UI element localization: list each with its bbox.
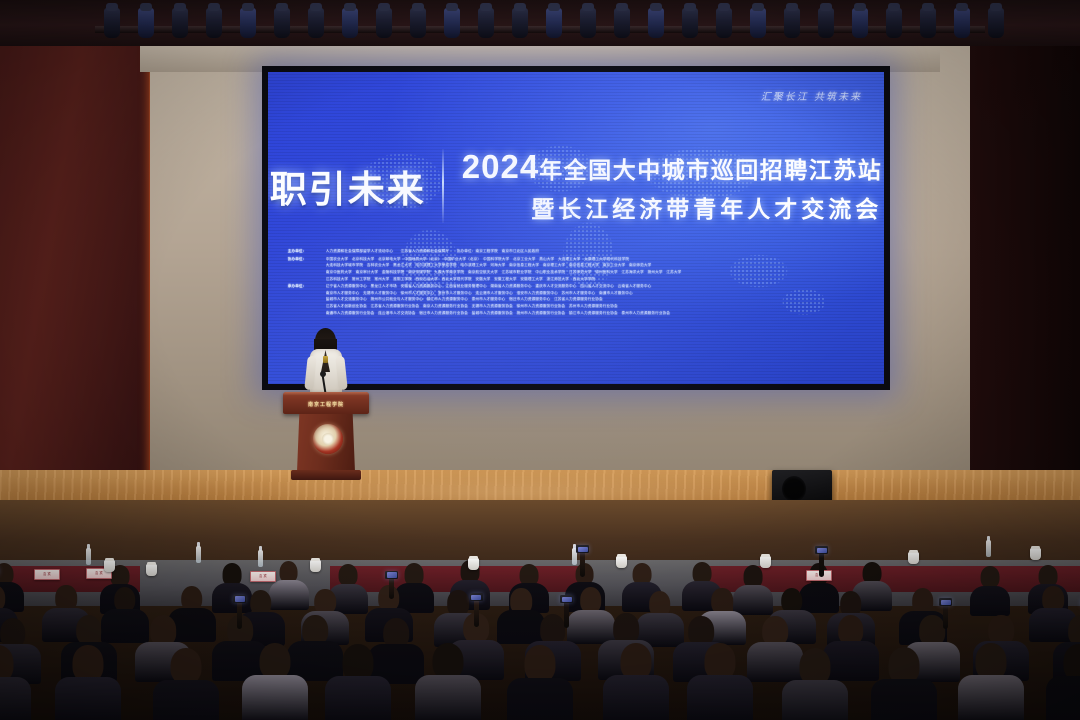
stage-light (580, 8, 596, 38)
stage-light (716, 8, 732, 38)
audience-body (1046, 676, 1080, 720)
water-bottle (258, 550, 263, 567)
audience-body (871, 679, 937, 720)
sponsor-body: 人力资源和社会保障部留学人才流动中心 江苏省人力资源和社会保障厅 协办单位：南京… (326, 248, 870, 255)
stage-light (410, 8, 426, 38)
lectern-top: 南京工程学院 (283, 392, 369, 414)
raised-arm (819, 552, 824, 577)
speaker-badge (323, 356, 328, 363)
water-bottle (86, 548, 91, 565)
audience-body (415, 675, 481, 720)
side-wall-left (0, 0, 170, 520)
water-cup (104, 560, 115, 572)
audience-body (242, 675, 308, 720)
guest-nameplate-text: 嘉 宾 (35, 570, 59, 579)
raised-arm (580, 551, 585, 576)
smartphone (470, 593, 483, 601)
sponsor-label: 协办单位： (288, 256, 322, 283)
audience-body (958, 675, 1024, 720)
stage-light (104, 8, 120, 38)
stage-light (784, 8, 800, 38)
headline-divider (442, 149, 444, 223)
water-bottle (986, 540, 991, 557)
audience-body (55, 677, 121, 720)
stage-light (852, 8, 868, 38)
audience-member (603, 643, 669, 720)
audience-body (687, 675, 753, 720)
stage-light (206, 8, 222, 38)
audience-member (55, 645, 121, 720)
sponsor-body: 辽宁省人力资源服务中心 黑龙江人才市场 安徽省人力资源服务中心 江西省就业服务管… (326, 283, 870, 316)
stage-light (886, 8, 902, 38)
guest-nameplate-text: 嘉 宾 (251, 572, 275, 581)
audience-member (1046, 644, 1080, 720)
guest-nameplate: 嘉 宾 (34, 569, 60, 580)
raised-arm (237, 601, 242, 629)
stage-light (988, 8, 1004, 38)
water-cup (146, 564, 157, 576)
audience-member (507, 645, 573, 720)
raised-arm (474, 599, 479, 627)
raised-arm (564, 601, 569, 628)
event-title-line1-rest: 年全国大中城市巡回招聘江苏站 (539, 157, 882, 183)
water-cup (908, 552, 919, 564)
sponsor-line: 南京市人才服务中心 无锡市人才服务中心 徐州市人才服务中心 常州市人才服务中心 … (326, 290, 870, 297)
stage-light (342, 8, 358, 38)
sponsor-label: 承办单位： (288, 283, 322, 316)
lighting-truss (0, 0, 1080, 46)
event-title-year: 2024 (462, 148, 539, 185)
event-slogan: 职引未来 (270, 159, 442, 213)
stage-light (376, 8, 392, 38)
sponsor-row: 协办单位： 中国农业大学 北京科技大学 北京邮电大学 中国地质大学（北京） 中国… (288, 256, 870, 283)
sponsor-line: 江苏省人才创新创业协会 江苏省人力资源服务行业协会 南京人力资源服务行业协会 无… (326, 303, 870, 310)
microphone-head (320, 371, 326, 377)
stage-light (546, 8, 562, 38)
sponsor-list: 主办单位： 人力资源和社会保障部留学人才流动中心 江苏省人力资源和社会保障厅 协… (288, 248, 870, 317)
event-title-line2: 暨长江经济带青年人才交流会 (462, 190, 882, 224)
water-cup (468, 558, 479, 570)
stage-light (444, 8, 460, 38)
raised-arm (943, 604, 948, 629)
lectern-label: 南京工程学院 (295, 400, 357, 409)
smartphone (576, 545, 589, 553)
event-title-block: 2024年全国大中城市巡回招聘江苏站 暨长江经济带青年人才交流会 (462, 148, 882, 224)
audience-member (325, 644, 391, 720)
sponsor-line: 南通市人力资源服务行业协会 连云港市人才交流协会 宿迁市人力资源服务行业协会 盐… (326, 310, 870, 317)
audience-member (415, 643, 481, 720)
water-cup (760, 556, 771, 568)
curtain-right (964, 24, 1080, 502)
audience-body (507, 678, 573, 720)
audience-member (687, 643, 753, 720)
water-cup (310, 560, 321, 572)
stage-light (614, 8, 630, 38)
audience-member (153, 648, 219, 720)
audience-body (603, 675, 669, 720)
stage-light (308, 8, 324, 38)
smartphone (560, 595, 573, 603)
sponsor-line: 辽宁省人力资源服务中心 黑龙江人才市场 安徽省人力资源服务中心 江西省就业服务管… (326, 283, 870, 290)
stage-light (512, 8, 528, 38)
stage-light (240, 8, 256, 38)
guest-nameplate: 嘉 宾 (250, 571, 276, 582)
stage-light (138, 8, 154, 38)
water-cup (1030, 548, 1041, 560)
screen-headline: 职引未来 2024年全国大中城市巡回招聘江苏站 暨长江经济带青年人才交流会 (268, 148, 884, 224)
water-cup (616, 556, 627, 568)
audience-body (970, 586, 1010, 616)
stage-light (920, 8, 936, 38)
audience-body (782, 680, 848, 720)
institution-seal-icon (313, 424, 343, 454)
sponsor-line: 南京中医药大学 南京审计大学 金陵科技学院 南京传媒学院 九鼎大学南京学院 南京… (326, 269, 870, 276)
calligraphy-text: 汇聚长江 共筑未来 (761, 88, 862, 103)
sponsor-body: 中国农业大学 北京科技大学 北京邮电大学 中国地质大学（北京） 中国矿业大学（北… (326, 256, 870, 283)
stage-light (954, 8, 970, 38)
podium-and-speaker: 南京工程学院 (283, 330, 369, 480)
audience-member (958, 643, 1024, 720)
audience-body (325, 676, 391, 720)
sponsor-line: 盐城市人才交流服务中心 扬州市公共就业与人才服务中心 镇江市人力资源服务中心 泰… (326, 296, 870, 303)
audience-member (782, 648, 848, 720)
sponsor-line: 江苏科技大学 常州工学院 常州大学 淮阴工学院 西安石油大学 西北大学现代学院 … (326, 276, 870, 283)
audience-member (242, 643, 308, 720)
raised-arm (389, 577, 394, 599)
audience-body (153, 680, 219, 720)
auditorium-photo: 汇聚长江 共筑未来 职引未来 2024年全国大中城市巡回招聘江苏站 暨长江经济带… (0, 0, 1080, 720)
stage-light (172, 8, 188, 38)
stage-light (818, 8, 834, 38)
sponsor-row: 主办单位： 人力资源和社会保障部留学人才流动中心 江苏省人力资源和社会保障厅 协… (288, 248, 870, 255)
stage-light (682, 8, 698, 38)
sponsor-label: 主办单位： (288, 248, 322, 255)
water-bottle (196, 546, 201, 563)
smartphone (815, 546, 828, 554)
sponsor-line: 大连科技大学城市学院 吉林农业大学 黑龙江大学 哈尔滨理工大学荣成学院 哈尔滨理… (326, 262, 870, 269)
sponsor-row: 承办单位： 辽宁省人力资源服务中心 黑龙江人才市场 安徽省人力资源服务中心 江西… (288, 283, 870, 316)
stage-light (648, 8, 664, 38)
smartphone (939, 598, 952, 606)
audience-body (0, 677, 31, 720)
stage-light (750, 8, 766, 38)
sponsor-line: 中国农业大学 北京科技大学 北京邮电大学 中国地质大学（北京） 中国矿业大学（北… (326, 256, 870, 263)
smartphone (233, 595, 246, 603)
event-title-line1: 2024年全国大中城市巡回招聘江苏站 (462, 148, 882, 186)
audience-member (871, 647, 937, 720)
audience-member (0, 645, 31, 720)
stage-light (274, 8, 290, 38)
stage-light (478, 8, 494, 38)
sponsor-line: 人力资源和社会保障部留学人才流动中心 江苏省人力资源和社会保障厅 协办单位：南京… (326, 248, 870, 255)
lectern-base (291, 470, 361, 480)
smartphone (385, 571, 398, 579)
